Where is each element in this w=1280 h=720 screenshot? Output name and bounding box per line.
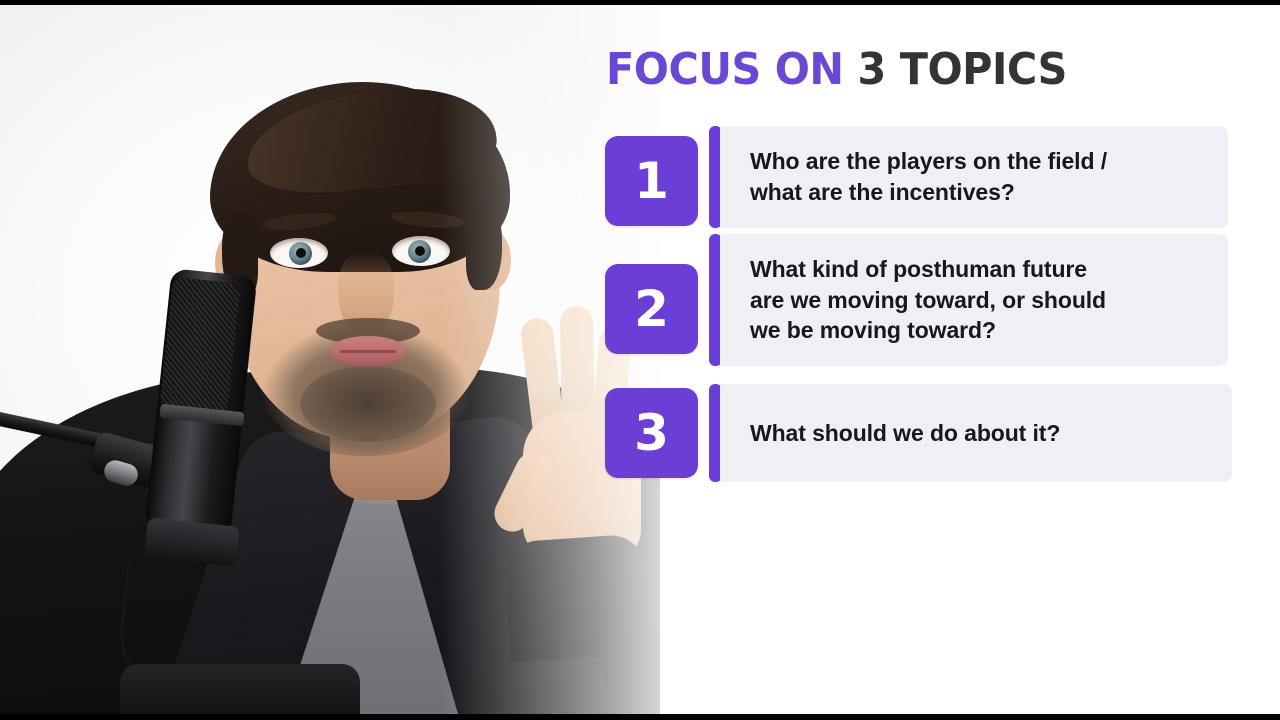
- pupil-right: [415, 246, 425, 256]
- eye-right: [392, 236, 450, 266]
- lip-line: [340, 350, 396, 353]
- topic-list: 1 Who are the players on the field / wha…: [604, 126, 1234, 484]
- topic-number-badge-1: 1: [605, 136, 698, 226]
- beard-chin: [300, 366, 436, 442]
- topic-row-1: 1 Who are the players on the field / wha…: [604, 126, 1234, 234]
- microphone-grille: [159, 277, 240, 415]
- topic-row-3: 3 What should we do about it?: [604, 384, 1234, 484]
- topic-row-2: 2 What kind of posthuman future are we m…: [604, 234, 1234, 384]
- chair-back: [120, 664, 360, 720]
- topic-panel-3: What should we do about it?: [720, 384, 1232, 482]
- topic-text-2: What kind of posthuman future are we mov…: [750, 254, 1106, 346]
- jacket-sleeve: [503, 533, 651, 662]
- sideburn-right: [466, 206, 502, 290]
- pupil-left: [296, 248, 306, 258]
- topic-number-badge-3: 3: [605, 388, 698, 478]
- video-frame: FOCUS ON 3 TOPICS 1 Who are the players …: [0, 0, 1280, 720]
- slide-title: FOCUS ON 3 TOPICS: [606, 48, 1067, 92]
- topic-text-1: Who are the players on the field / what …: [750, 146, 1107, 207]
- slide-title-accent: FOCUS ON: [606, 44, 844, 95]
- letterbox-bar-bottom: [0, 714, 1280, 720]
- letterbox-bar-top: [0, 0, 1280, 5]
- slide-title-plain: 3 TOPICS: [844, 44, 1067, 95]
- topic-number-badge-2: 2: [605, 264, 698, 354]
- eye-left: [270, 238, 328, 268]
- topic-panel-2: What kind of posthuman future are we mov…: [720, 234, 1228, 366]
- topic-text-3: What should we do about it?: [750, 418, 1060, 449]
- topic-panel-1: Who are the players on the field / what …: [720, 126, 1228, 228]
